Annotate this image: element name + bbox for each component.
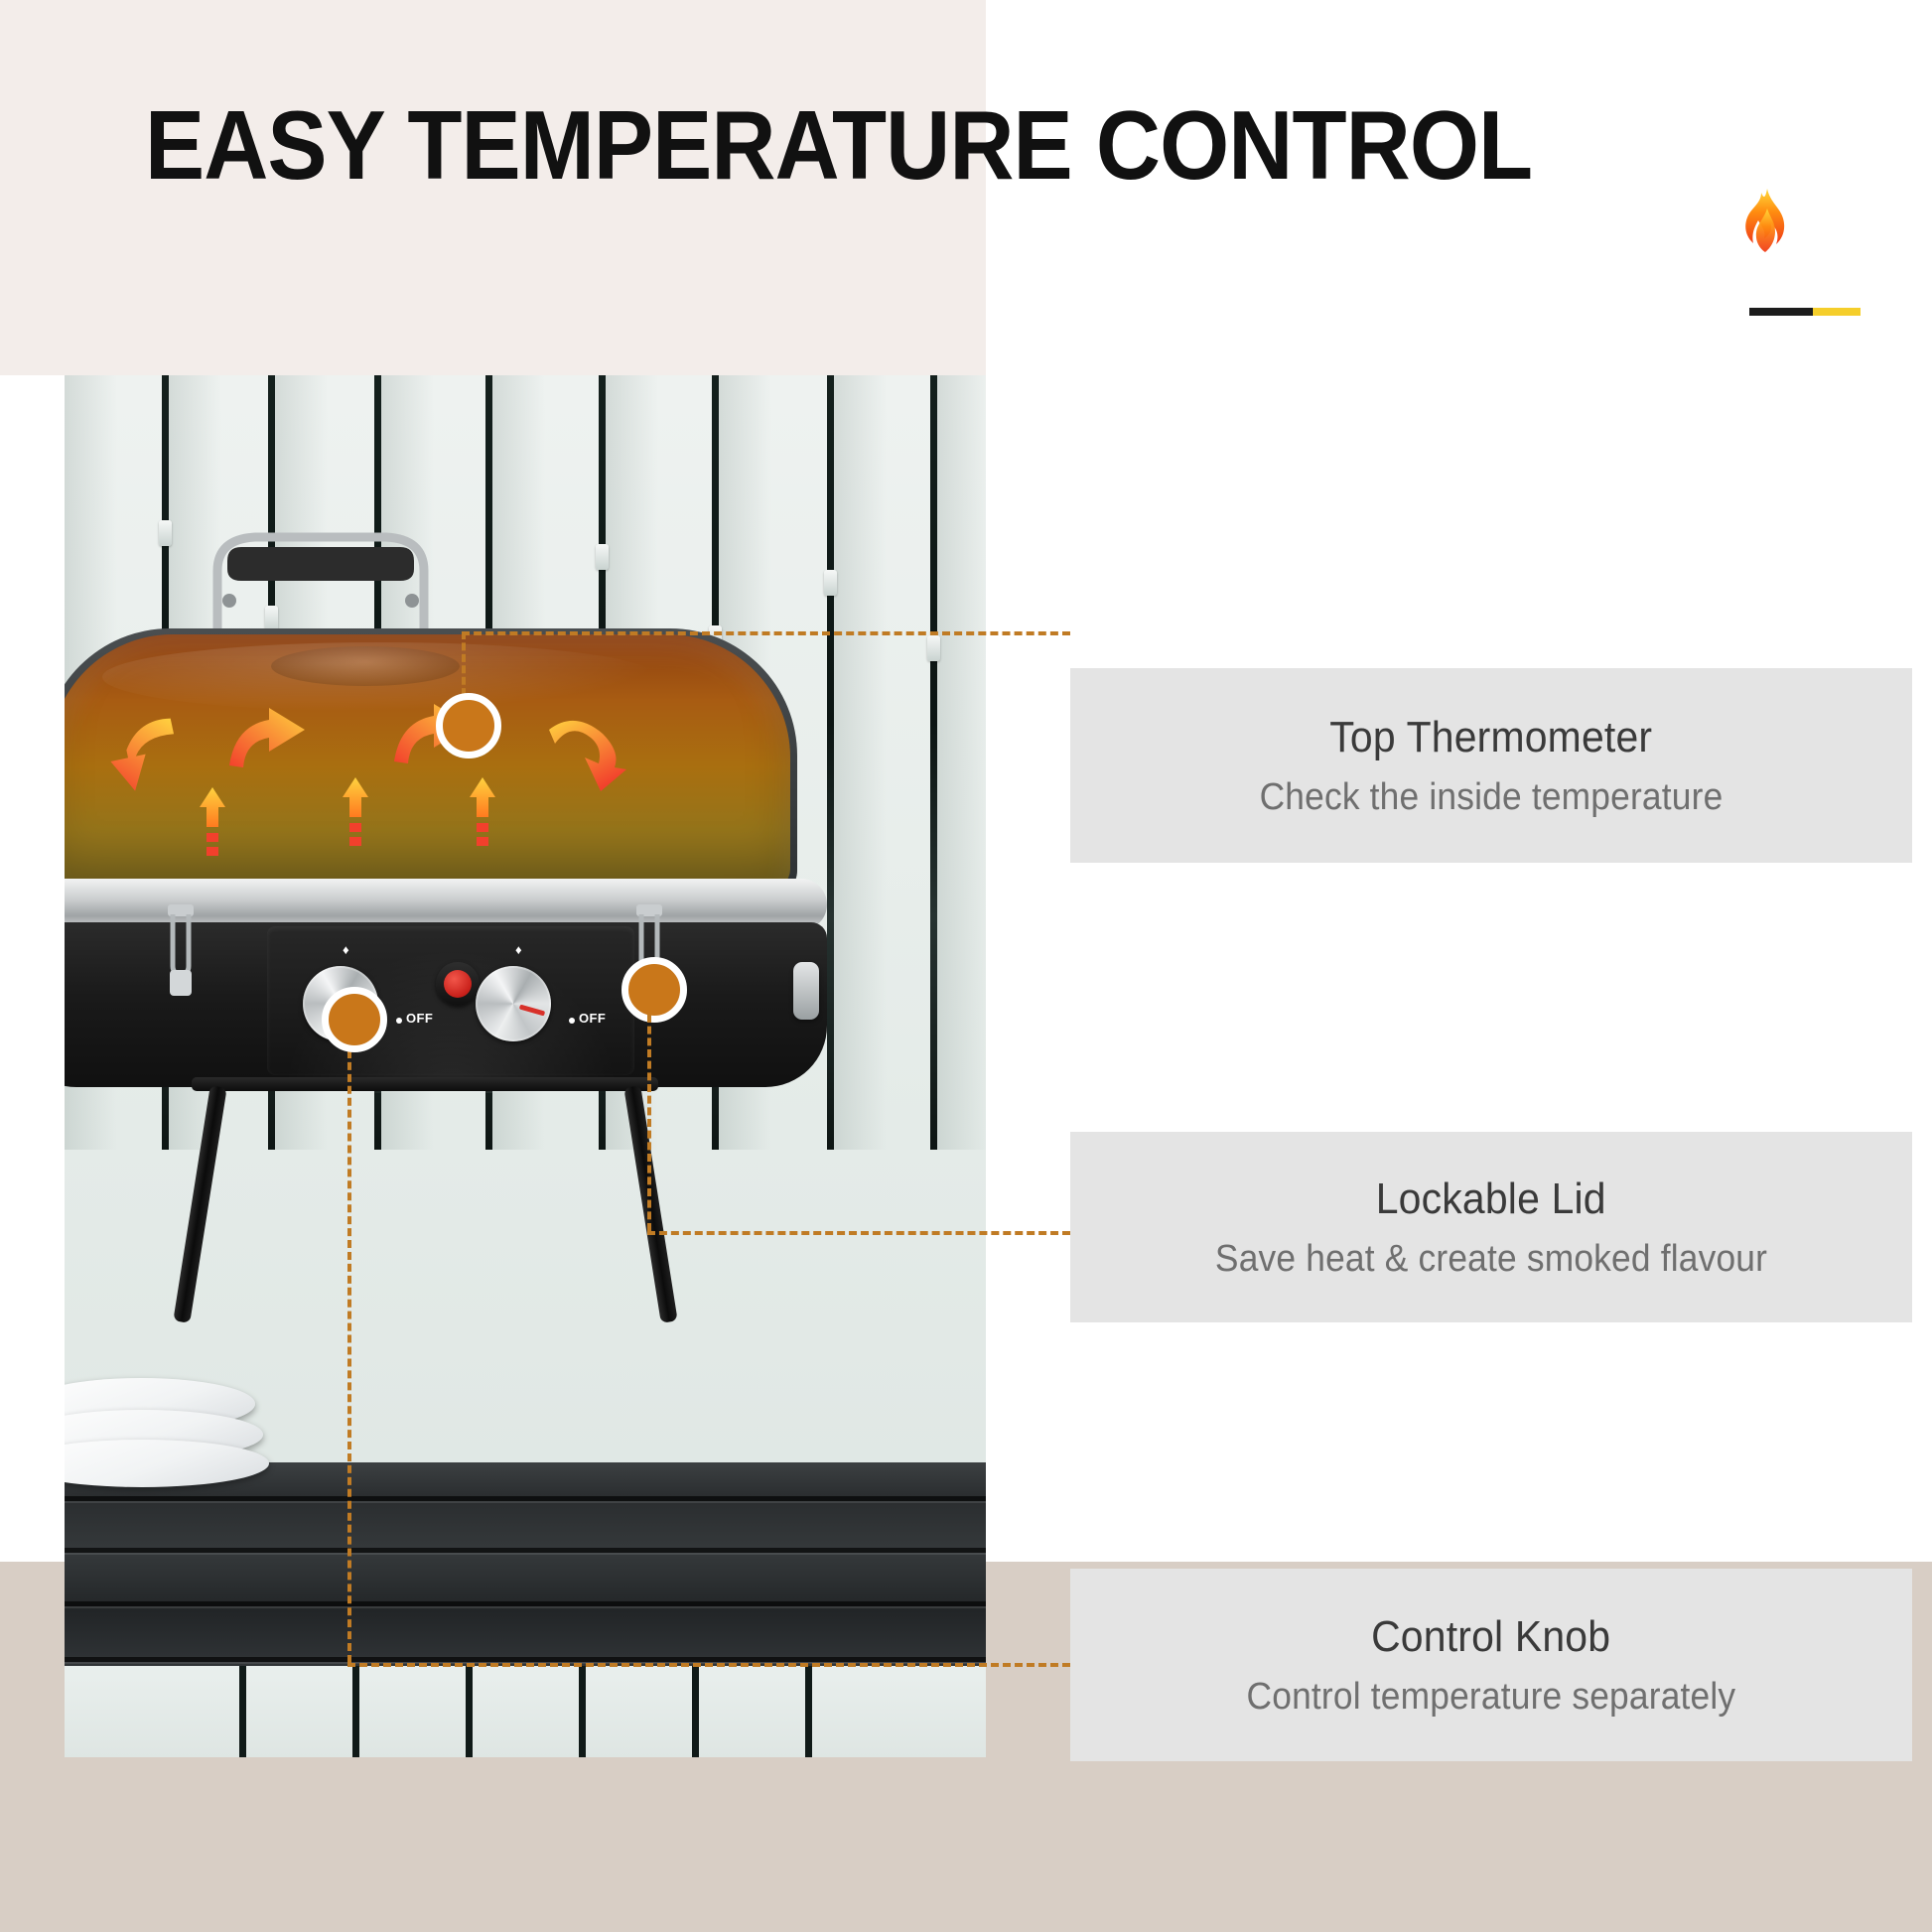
- leader-line-lid-vertical: [647, 1015, 651, 1231]
- fence-lower-strip: [65, 1666, 986, 1757]
- flame-icon: ♦: [343, 942, 349, 957]
- heat-arrow-curved: [223, 694, 313, 780]
- callout-subtitle: Check the inside temperature: [1260, 776, 1724, 819]
- table-slat: [65, 1657, 986, 1662]
- callout-title: Top Thermometer: [1330, 713, 1653, 762]
- heat-arrow-rising: [200, 787, 225, 861]
- callout-title: Lockable Lid: [1376, 1174, 1606, 1224]
- heat-arrow-rising: [343, 777, 368, 851]
- brand-rule-gold-segment: [1813, 308, 1861, 316]
- page-title: EASY TEMPERATURE CONTROL: [145, 95, 1532, 197]
- fence-plank-gap: [692, 1666, 699, 1757]
- control-knob-marker-dot[interactable]: [322, 987, 387, 1052]
- control-knob-right[interactable]: [476, 966, 551, 1041]
- fence-plank-gap: [805, 1666, 812, 1757]
- fence-plank: [937, 375, 986, 1150]
- heat-arrow-rising: [470, 777, 495, 851]
- brand-rule: [1749, 308, 1861, 316]
- table-slat: [65, 1496, 986, 1501]
- knob-indicator: [519, 1005, 545, 1017]
- off-indicator-dot: [396, 1018, 402, 1024]
- off-indicator-dot: [569, 1018, 575, 1024]
- heat-arrow-curved: [541, 704, 636, 798]
- callout-top-thermometer[interactable]: Top Thermometer Check the inside tempera…: [1070, 668, 1912, 863]
- lid-latch-marker-dot[interactable]: [621, 957, 687, 1023]
- leader-line-lid-horizontal: [647, 1231, 1070, 1235]
- flame-icon: ♦: [515, 942, 522, 957]
- fence-screw: [596, 544, 609, 570]
- fence-screw: [159, 520, 172, 546]
- thermometer-marker-dot[interactable]: [436, 693, 501, 759]
- flame-icon: [1739, 187, 1795, 262]
- callout-subtitle: Control temperature separately: [1247, 1676, 1736, 1719]
- table-slat: [65, 1601, 986, 1606]
- callout-control-knob[interactable]: Control Knob Control temperature separat…: [1070, 1569, 1912, 1761]
- callout-lockable-lid[interactable]: Lockable Lid Save heat & create smoked f…: [1070, 1132, 1912, 1322]
- fence-plank-gap: [239, 1666, 246, 1757]
- callout-title: Control Knob: [1371, 1612, 1610, 1662]
- callout-subtitle: Save heat & create smoked flavour: [1215, 1238, 1767, 1281]
- product-photo: ♦ OFF ♦ OFF: [65, 375, 986, 1757]
- knob-off-label-right: OFF: [579, 1011, 606, 1026]
- heat-arrow-curved: [94, 716, 184, 802]
- fence-plank: [834, 375, 929, 1150]
- fence-plank-gap: [827, 375, 834, 1150]
- grill-leg: [173, 1085, 226, 1323]
- lid-latch-left: [164, 904, 198, 1000]
- igniter-button[interactable]: [444, 970, 472, 998]
- fence-screw: [927, 635, 940, 661]
- knob-off-label-left: OFF: [406, 1011, 433, 1026]
- leader-line-knob-horizontal: [347, 1663, 1070, 1667]
- fence-plank-gap: [579, 1666, 586, 1757]
- leader-line-knob-vertical: [347, 1038, 351, 1663]
- lid-handle: [202, 525, 440, 636]
- side-handle-right: [793, 962, 819, 1020]
- leader-line-thermometer-horizontal: [462, 631, 1070, 635]
- brand-rule-dark-segment: [1749, 308, 1813, 316]
- fence-plank-gap: [352, 1666, 359, 1757]
- fence-plank-gap: [466, 1666, 473, 1757]
- fence-plank-gap: [930, 375, 937, 1150]
- fence-screw: [824, 570, 837, 596]
- lid-vent: [271, 646, 460, 686]
- leg-cross-bar: [192, 1077, 658, 1091]
- table-slat: [65, 1548, 986, 1553]
